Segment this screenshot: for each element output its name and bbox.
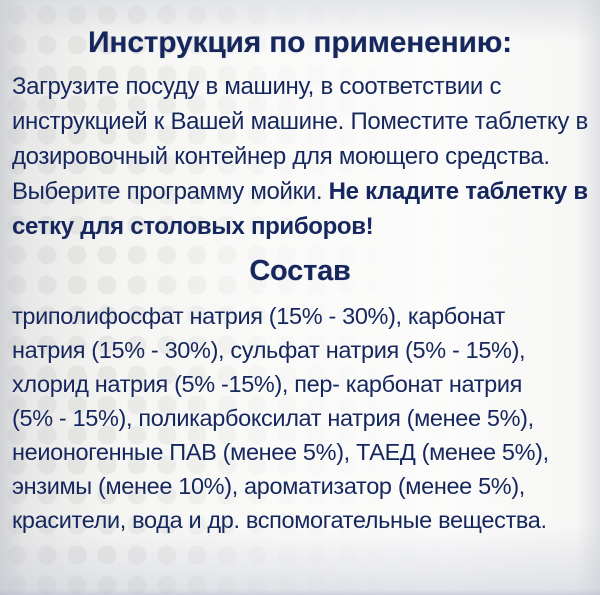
ingredients-line: энзимы (менее 10%), ароматизатор (менее …: [12, 469, 596, 503]
ingredients-list-text: триполифосфат натрия (15% - 30%), карбон…: [0, 292, 600, 537]
instruction-body-text: Загрузите посуду в машину, в соответстви…: [0, 60, 600, 244]
ingredients-line: триполифосфат натрия (15% - 30%), карбон…: [12, 299, 596, 333]
ingredients-line: неионогенные ПАВ (менее 5%), ТАЕД (менее…: [12, 435, 596, 469]
instruction-heading: Инструкция по применению:: [0, 0, 600, 60]
product-label-page: Инструкция по применению: Загрузите посу…: [0, 0, 600, 595]
ingredients-line: хлорид натрия (5% -15%), пер- карбонат н…: [12, 367, 596, 401]
label-content: Инструкция по применению: Загрузите посу…: [0, 0, 600, 537]
composition-heading: Состав: [0, 244, 600, 292]
ingredients-line: (5% - 15%), поликарбоксилат натрия (мене…: [12, 401, 596, 435]
ingredients-line: красители, вода и др. вспомогательные ве…: [12, 503, 596, 537]
ingredients-line: натрия (15% - 30%), сульфат натрия (5% -…: [12, 333, 596, 367]
